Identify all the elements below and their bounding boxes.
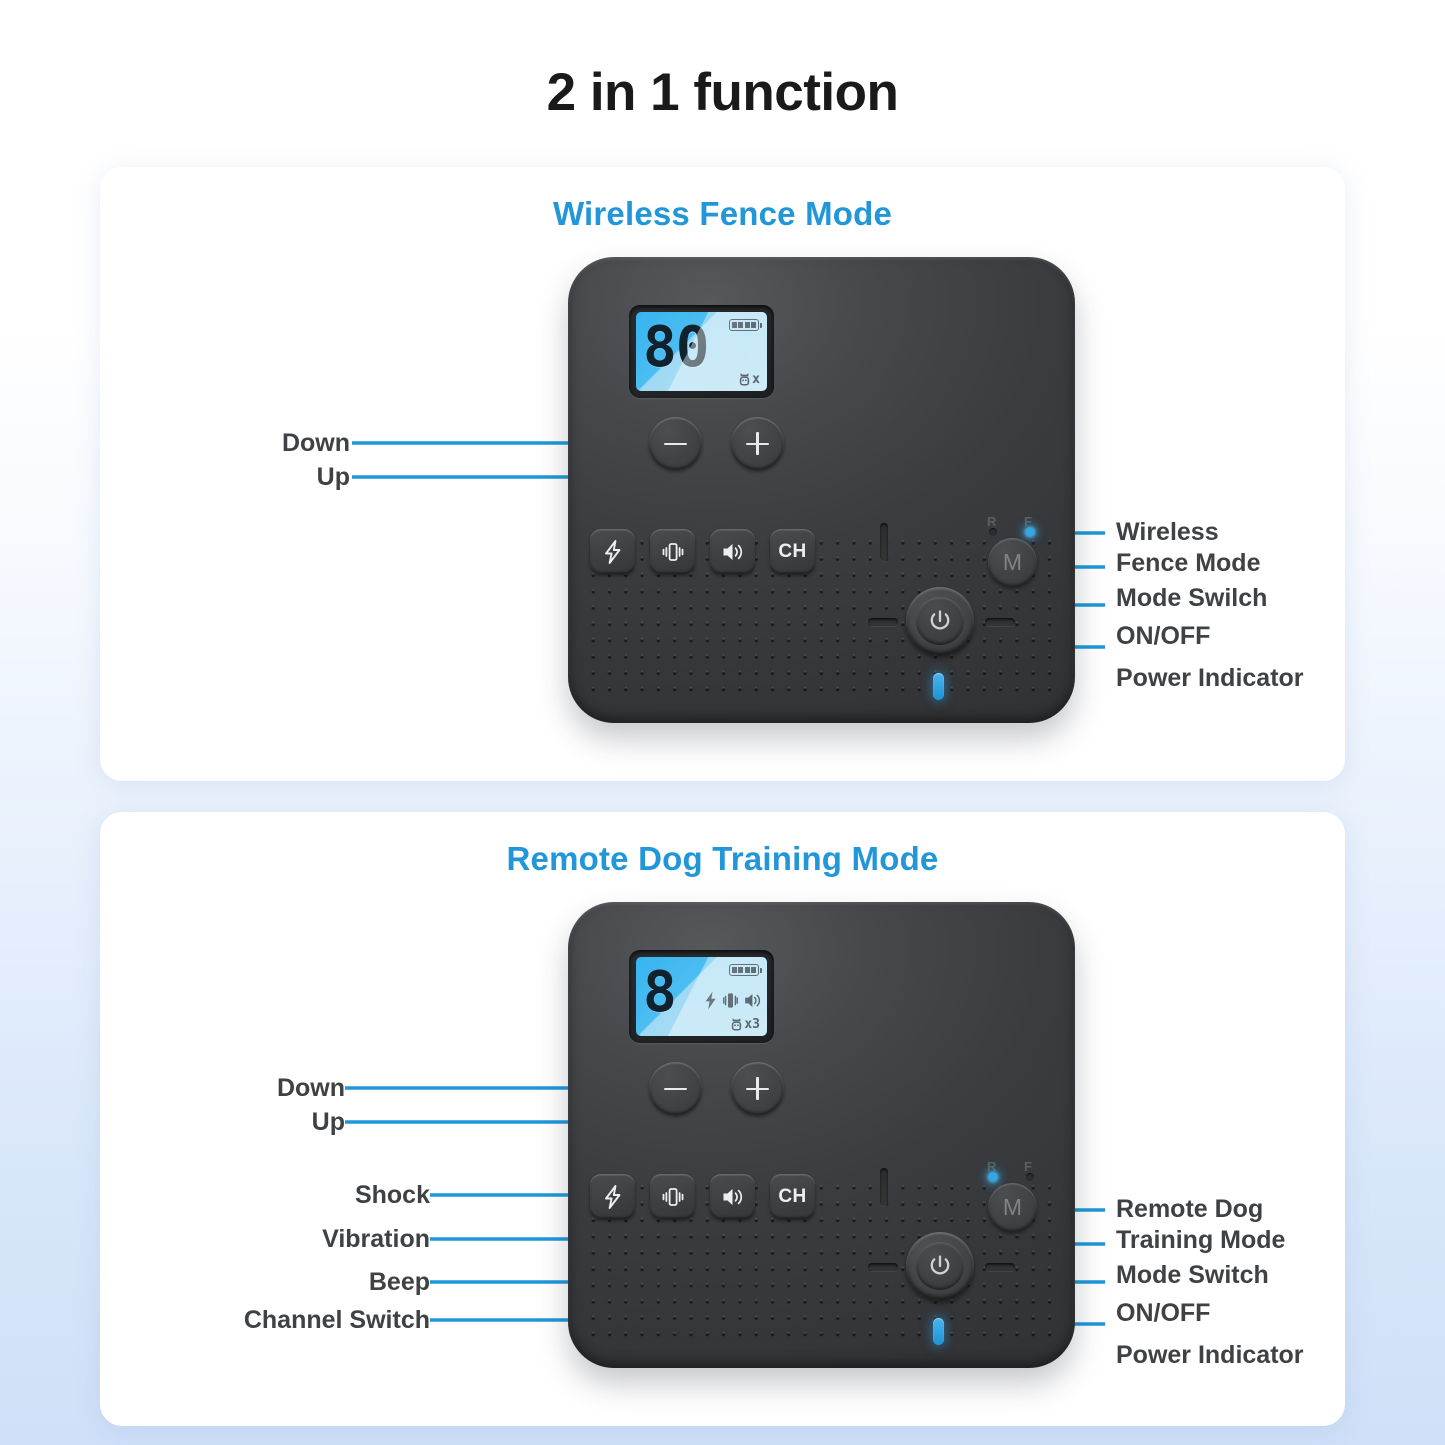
led-label-r: R — [987, 514, 997, 529]
mode-switch-button[interactable]: M — [988, 538, 1037, 587]
dog-icon — [739, 372, 750, 386]
led-label-f: F — [1024, 1159, 1032, 1174]
shock-button[interactable] — [590, 1174, 635, 1219]
channel-button[interactable]: CH — [770, 529, 815, 574]
lcd-level-value: 8 — [643, 965, 677, 1021]
beep-button[interactable] — [710, 1174, 755, 1219]
callout-up: Up — [160, 462, 350, 493]
callout-on-off: ON/OFF — [1116, 621, 1210, 652]
speaker-icon — [744, 992, 761, 1009]
callout-channel-switch: Channel Switch — [140, 1305, 430, 1336]
battery-icon — [729, 319, 759, 331]
callout-on-off: ON/OFF — [1116, 1298, 1210, 1329]
channel-button-label: CH — [778, 1186, 806, 1208]
device-unit-fence: 80 x — [568, 257, 1075, 723]
lcd-screen: 80 x — [636, 312, 767, 391]
callout-power-indicator: Power Indicator — [1116, 1340, 1304, 1371]
lcd-dog-count: x — [739, 372, 760, 386]
mode-led-r — [989, 528, 997, 536]
speaker-icon — [721, 1186, 745, 1208]
power-indicator-led — [933, 673, 944, 700]
lightning-icon — [704, 991, 717, 1010]
lightning-icon — [603, 540, 623, 564]
device-unit-remote: 8 — [568, 902, 1075, 1368]
callout-vibration: Vibration — [140, 1224, 430, 1255]
callout-mode-switch: Mode Switch — [1116, 1260, 1269, 1291]
down-button[interactable] — [649, 1062, 702, 1115]
lcd-bezel: 8 — [629, 950, 774, 1043]
up-button[interactable] — [731, 417, 784, 470]
dog-icon — [731, 1017, 742, 1031]
speaker-slot-vertical — [880, 1168, 888, 1206]
page-title: 2 in 1 function — [0, 62, 1445, 123]
lightning-icon — [603, 1185, 623, 1209]
callout-remote-dog-training-mode: Remote Dog Training Mode — [1116, 1194, 1285, 1256]
led-label-r: R — [987, 1159, 997, 1174]
mode-led-f — [1026, 1173, 1034, 1181]
speaker-slot-left — [868, 1263, 898, 1271]
power-button[interactable] — [906, 1232, 974, 1300]
channel-button-label: CH — [778, 541, 806, 563]
callout-beep: Beep — [140, 1267, 430, 1298]
vibration-button[interactable] — [650, 529, 695, 574]
lcd-dog-count: x3 — [731, 1017, 760, 1031]
power-icon — [927, 1253, 953, 1279]
vibration-icon — [662, 1185, 684, 1209]
led-label-f: F — [1024, 514, 1032, 529]
power-icon — [927, 608, 953, 634]
card-remote-dog-training: Remote Dog Training Mode 8 — [100, 812, 1345, 1426]
callout-power-indicator: Power Indicator — [1116, 663, 1304, 694]
lcd-bezel: 80 x — [629, 305, 774, 398]
dog-count-text: x — [752, 373, 760, 386]
lcd-level-value: 80 — [643, 320, 708, 376]
speaker-slot-vertical — [880, 523, 888, 561]
callout-down: Down — [140, 1073, 345, 1104]
power-button[interactable] — [906, 587, 974, 655]
power-indicator-led — [933, 1318, 944, 1345]
down-button[interactable] — [649, 417, 702, 470]
card-wireless-fence: Wireless Fence Mode 80 — [100, 167, 1345, 781]
up-button[interactable] — [731, 1062, 784, 1115]
vibration-icon — [662, 540, 684, 564]
dog-count-text: x3 — [744, 1018, 760, 1031]
speaker-slot-right — [985, 618, 1015, 626]
lcd-screen: 8 — [636, 957, 767, 1036]
vibration-button[interactable] — [650, 1174, 695, 1219]
beep-button[interactable] — [710, 529, 755, 574]
shock-button[interactable] — [590, 529, 635, 574]
section-title-wireless-fence: Wireless Fence Mode — [100, 195, 1345, 233]
mode-led-f — [1026, 528, 1034, 536]
callout-up: Up — [140, 1107, 345, 1138]
battery-icon — [729, 964, 759, 976]
power-button-ring — [916, 597, 964, 645]
speaker-icon — [721, 541, 745, 563]
section-title-remote-dog-training: Remote Dog Training Mode — [100, 840, 1345, 878]
speaker-slot-left — [868, 618, 898, 626]
mode-switch-button[interactable]: M — [988, 1183, 1037, 1232]
lcd-mode-icons — [704, 991, 761, 1010]
vibration-icon — [723, 991, 738, 1010]
channel-button[interactable]: CH — [770, 1174, 815, 1219]
power-button-ring — [916, 1242, 964, 1290]
speaker-slot-right — [985, 1263, 1015, 1271]
mode-led-r — [989, 1173, 997, 1181]
callout-shock: Shock — [140, 1180, 430, 1211]
callout-down: Down — [160, 428, 350, 459]
callout-mode-switch: Mode Swilch — [1116, 583, 1267, 614]
callout-wireless-fence-mode: Wireless Fence Mode — [1116, 517, 1260, 579]
